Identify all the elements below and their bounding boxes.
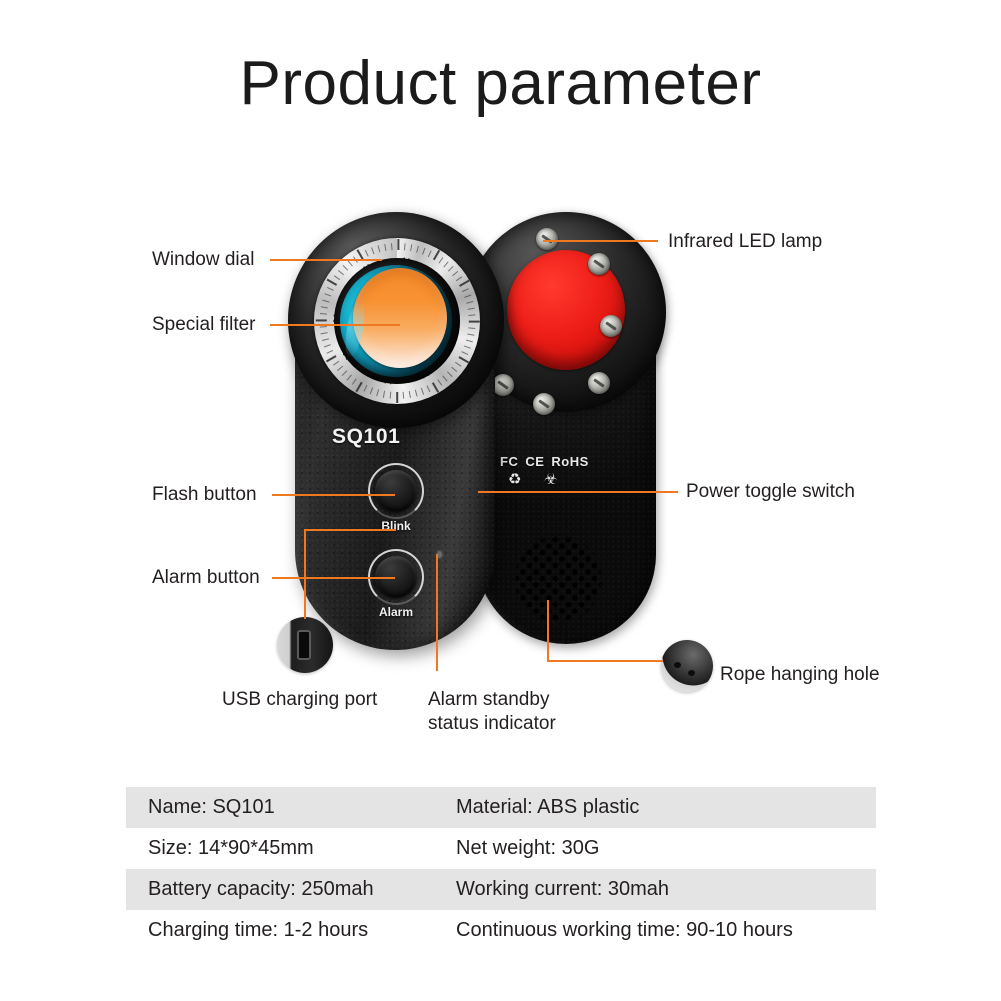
spec-charging-time: Charging time: 1-2 hours: [126, 919, 456, 942]
dial-tick: [410, 244, 412, 251]
dial-tick: [467, 333, 474, 335]
dial-tick: [415, 390, 418, 397]
dial-tick: [327, 287, 334, 291]
spec-battery-capacity: Battery capacity: 250mah: [126, 878, 456, 901]
dial-tick: [338, 270, 344, 275]
infrared-led-icon: [588, 372, 610, 394]
dial-tick: [342, 265, 348, 271]
callout-usb-port: USB charging port: [222, 688, 377, 712]
infrared-led-icon: [600, 315, 622, 337]
dial-tick: [459, 280, 469, 287]
dial-tick: [322, 338, 329, 341]
usb-port-icon: [297, 630, 311, 660]
blink-button[interactable]: [375, 470, 417, 512]
dial-tick: [364, 385, 368, 392]
dial-tick: [321, 332, 328, 334]
product-diagram: FC CE RoHS ♻ ☣ 2102403003303060120150 SQ…: [0, 0, 1001, 780]
leader-line-usb-branch: [304, 529, 396, 531]
dial-tick: [458, 357, 468, 364]
dial-tick: [352, 378, 357, 384]
dial-tick: [357, 249, 364, 259]
special-filter-lens: [353, 268, 447, 368]
recycle-symbol-icon: ♻: [508, 472, 522, 488]
callout-alarm-status-line2: status indicator: [428, 712, 618, 736]
callout-infrared-led: Infrared LED lamp: [668, 230, 822, 254]
dial-tick: [468, 307, 475, 309]
dial-tick: [409, 391, 411, 398]
dial-tick: [437, 379, 442, 385]
dial-tick: [451, 367, 457, 372]
infrared-led-icon: [533, 393, 555, 415]
dial-tick: [324, 344, 331, 348]
spec-material: Material: ABS plastic: [456, 796, 876, 819]
alarm-button-caption: Alarm: [356, 605, 436, 619]
dial-tick: [416, 246, 419, 253]
spec-continuous-working-time: Continuous working time: 90-10 hours: [456, 919, 876, 942]
dial-tick: [322, 300, 329, 303]
rope-hole-icon: [688, 670, 695, 676]
callout-rope-hole: Rope hanging hole: [720, 663, 880, 687]
dial-tick: [404, 243, 406, 250]
dial-tick: [347, 260, 352, 266]
dial-tick: [469, 321, 480, 323]
callout-flash-button: Flash button: [152, 483, 257, 507]
dial-tick: [456, 276, 462, 281]
dial-tick: [438, 257, 443, 263]
callout-alarm-status: Alarm standby status indicator: [428, 688, 618, 736]
dial-tick: [320, 313, 327, 315]
dial-tick: [432, 382, 439, 392]
brand-label: SQ101: [332, 425, 400, 449]
dial-tick: [342, 370, 348, 376]
table-row: Charging time: 1-2 hours Continuous work…: [126, 910, 876, 951]
table-row: Size: 14*90*45mm Net weight: 30G: [126, 828, 876, 869]
dial-tick: [316, 319, 327, 321]
dial-tick: [468, 327, 475, 329]
usb-port-inset: [277, 617, 333, 673]
infrared-led-icon: [492, 374, 514, 396]
dial-tick: [421, 388, 425, 395]
dial-tick: [433, 250, 440, 260]
dial-tick: [326, 350, 333, 354]
dial-tick: [384, 244, 386, 251]
table-row: Battery capacity: 250mah Working current…: [126, 869, 876, 910]
leader-line-special-filter: [270, 324, 400, 326]
leader-line-infrared-led: [543, 240, 658, 242]
dial-tick: [334, 275, 340, 280]
spec-table: Name: SQ101 Material: ABS plastic Size: …: [126, 787, 876, 951]
rope-hole-inset: [661, 640, 713, 692]
dial-tick: [355, 382, 362, 392]
table-row: Name: SQ101 Material: ABS plastic: [126, 787, 876, 828]
infrared-led-icon: [536, 228, 558, 250]
dial-tick: [337, 366, 343, 371]
leader-line-rope-horizontal: [547, 660, 663, 662]
leader-line-alarm-status-vertical: [436, 554, 438, 671]
callout-alarm-status-line1: Alarm standby: [428, 688, 618, 712]
dial-tick: [464, 294, 471, 298]
leader-line-rope-vertical: [547, 600, 549, 660]
callout-window-dial: Window dial: [152, 248, 254, 272]
rohs-mark: RoHS: [551, 455, 588, 469]
callout-alarm-button: Alarm button: [152, 566, 260, 590]
spec-name: Name: SQ101: [126, 796, 456, 819]
dial-tick: [383, 391, 385, 398]
dial-tick: [390, 392, 392, 399]
callout-power-switch: Power toggle switch: [686, 480, 855, 504]
dial-tick: [443, 261, 448, 267]
spec-net-weight: Net weight: 30G: [456, 837, 876, 860]
callout-special-filter: Special filter: [152, 313, 256, 337]
spec-size: Size: 14*90*45mm: [126, 837, 456, 860]
weee-bin-symbol-icon: ☣: [544, 472, 558, 488]
speaker-grille: [510, 533, 606, 625]
spec-working-current: Working current: 30mah: [456, 878, 876, 901]
leader-line-window-dial: [270, 259, 382, 261]
dial-tick: [320, 326, 327, 328]
dial-tick: [447, 371, 453, 377]
dial-tick: [427, 385, 431, 392]
dial-tick: [442, 375, 447, 381]
dial-tick: [466, 339, 473, 342]
dial-tick: [396, 392, 398, 403]
leader-line-alarm-button: [272, 577, 395, 579]
dial-tick: [398, 239, 400, 250]
dial-tick: [391, 243, 393, 250]
dial-tick: [422, 248, 426, 255]
leader-line-usb-vertical: [304, 529, 306, 619]
dial-tick: [326, 355, 336, 362]
dial-tick: [462, 288, 469, 292]
infrared-led-icon: [588, 253, 610, 275]
dial-tick: [448, 266, 454, 272]
dial-tick: [333, 361, 339, 366]
leader-line-power-switch: [478, 491, 678, 493]
dial-tick: [377, 245, 380, 252]
dial-tick: [452, 271, 458, 276]
dial-tick: [371, 247, 375, 254]
dial-tick: [347, 375, 352, 381]
dial-tick: [327, 279, 337, 286]
dial-tick: [428, 250, 432, 257]
fcc-mark: FC: [500, 455, 518, 469]
dial-tick: [455, 362, 461, 367]
dial-tick: [466, 301, 473, 304]
dial-tick: [376, 389, 379, 396]
dial-tick: [370, 387, 374, 394]
dial-tick: [403, 392, 405, 399]
dial-tick: [464, 345, 471, 349]
certification-marks: FC CE RoHS ♻ ☣: [500, 455, 610, 487]
rope-hole-icon: [674, 662, 681, 668]
dial-tick: [461, 351, 468, 355]
dial-tick: [468, 314, 475, 316]
ce-mark: CE: [525, 455, 544, 469]
dial-tick: [324, 293, 331, 297]
leader-line-flash-button: [272, 494, 395, 496]
dial-tick: [321, 306, 328, 308]
dial-tick: [365, 250, 369, 257]
